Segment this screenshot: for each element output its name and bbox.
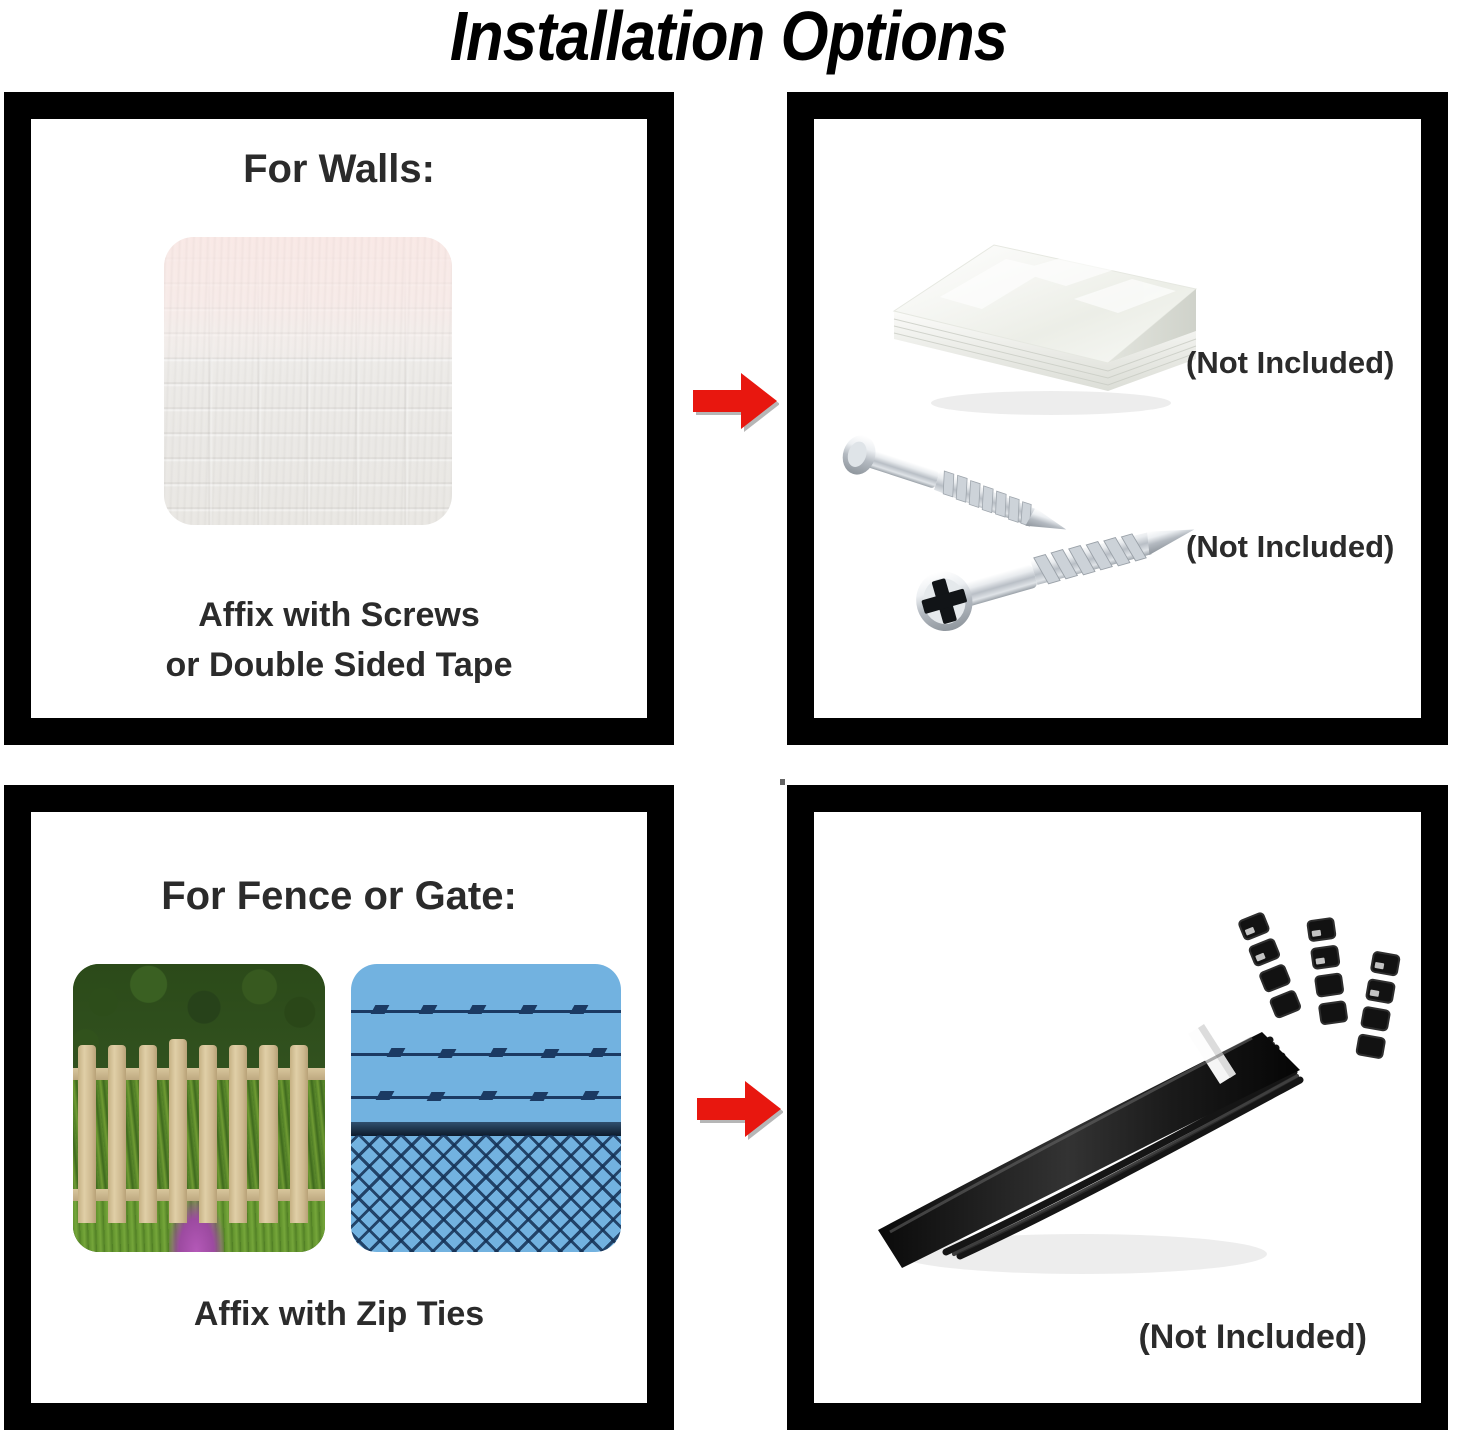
for-fence-or-gate-heading: For Fence or Gate: bbox=[31, 874, 647, 919]
panel-zip-ties-inner: (Not Included) bbox=[814, 812, 1421, 1403]
panel-for-fence-or-gate-inner: For Fence or Gate: bbox=[31, 812, 647, 1403]
screws-not-included-note: (Not Included) bbox=[1186, 529, 1394, 565]
wooden-picket-fence-photo bbox=[73, 964, 325, 1252]
picket-slat bbox=[78, 1045, 96, 1224]
scan-artifact-speck bbox=[780, 779, 785, 785]
for-walls-caption-line-1: Affix with Screws bbox=[31, 591, 647, 640]
panel-zip-ties: (Not Included) bbox=[787, 785, 1448, 1430]
for-fence-caption: Affix with Zip Ties bbox=[31, 1290, 647, 1339]
panel-wall-hardware-inner: (Not Included) bbox=[814, 119, 1421, 718]
for-fence-caption-line-1: Affix with Zip Ties bbox=[31, 1290, 647, 1339]
panel-wall-hardware: (Not Included) bbox=[787, 92, 1448, 745]
picket-slat bbox=[229, 1045, 247, 1224]
tape-not-included-note: (Not Included) bbox=[1186, 345, 1394, 381]
picket-slat bbox=[199, 1045, 217, 1224]
panel-for-walls: For Walls: Affix with Screws or Double S… bbox=[4, 92, 674, 745]
white-brick-wall-swatch bbox=[164, 237, 452, 525]
picket-slats bbox=[73, 964, 325, 1252]
page-title: Installation Options bbox=[87, 0, 1369, 76]
fence-top-rail bbox=[351, 1122, 621, 1135]
chain-link-mesh bbox=[351, 1135, 621, 1252]
zip-ties-not-included-note: (Not Included) bbox=[1138, 1318, 1367, 1357]
picket-slat bbox=[139, 1045, 157, 1224]
double-sided-tape-stack-icon bbox=[876, 231, 1206, 421]
black-zip-tie-bundle-icon bbox=[832, 882, 1412, 1302]
picket-slat bbox=[108, 1045, 126, 1224]
panel-for-walls-inner: For Walls: Affix with Screws or Double S… bbox=[31, 119, 647, 718]
arrow-walls-to-hardware-icon bbox=[689, 368, 779, 434]
picket-slat bbox=[169, 1039, 187, 1223]
phillips-wood-screws-icon bbox=[832, 419, 1232, 659]
picket-slat bbox=[290, 1045, 308, 1224]
chain-link-barbed-wire-fence-photo bbox=[351, 964, 621, 1252]
for-walls-caption: Affix with Screws or Double Sided Tape bbox=[31, 591, 647, 690]
wall-paint-grain bbox=[164, 237, 452, 525]
panel-for-fence-or-gate: For Fence or Gate: bbox=[4, 785, 674, 1430]
picket-slat bbox=[259, 1045, 277, 1224]
for-walls-heading: For Walls: bbox=[31, 147, 647, 192]
for-walls-caption-line-2: or Double Sided Tape bbox=[31, 641, 647, 690]
arrow-fence-to-zipties-icon bbox=[693, 1076, 783, 1142]
